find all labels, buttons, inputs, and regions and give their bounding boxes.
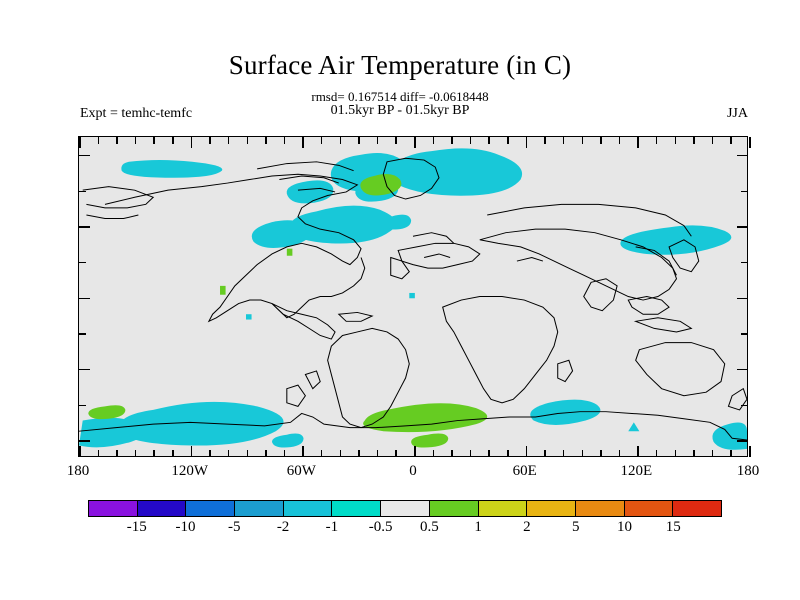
colorbar-tick-label: 15	[648, 519, 698, 536]
x-tick-minor	[600, 450, 602, 457]
x-axis-label-180w: 180	[43, 463, 113, 480]
x-tick-minor	[228, 450, 230, 457]
x-tick-minor	[488, 450, 490, 457]
colorbar-segment-2	[186, 501, 235, 516]
x-tick-minor	[712, 450, 714, 457]
colorbar-segment-3	[235, 501, 284, 516]
x-tick-minor	[619, 137, 621, 144]
colorbar-segment-7	[430, 501, 479, 516]
x-tick-major	[302, 137, 304, 148]
x-tick-minor	[358, 137, 360, 144]
x-tick-minor	[395, 137, 397, 144]
x-tick-major	[302, 446, 304, 457]
x-tick-minor	[693, 137, 695, 144]
x-tick-minor	[656, 137, 658, 144]
y-tick-right	[741, 405, 748, 407]
map-plot-area	[78, 136, 748, 457]
colorbar-tick-label: -15	[112, 519, 162, 536]
x-tick-minor	[730, 450, 732, 457]
x-axis-label-120W: 120W	[155, 463, 225, 480]
colorbar-segment-5	[332, 501, 381, 516]
x-tick-major	[191, 137, 193, 148]
y-tick-right	[741, 262, 748, 264]
x-tick-major	[79, 137, 81, 148]
x-axis-label-0: 0	[378, 463, 448, 480]
x-tick-minor	[116, 450, 118, 457]
x-tick-minor	[116, 137, 118, 144]
x-tick-minor	[340, 450, 342, 457]
colorbar-tick-label: 10	[599, 519, 649, 536]
x-tick-minor	[247, 450, 249, 457]
colorbar-tick-label: 0.5	[404, 519, 454, 536]
y-tick-minor	[79, 333, 86, 335]
x-tick-minor	[284, 450, 286, 457]
x-tick-minor	[321, 137, 323, 144]
y-tick-right	[737, 155, 748, 157]
x-tick-minor	[265, 450, 267, 457]
x-tick-minor	[209, 137, 211, 144]
coastlines	[79, 158, 747, 440]
x-tick-minor	[172, 450, 174, 457]
colorbar-segment-11	[625, 501, 674, 516]
y-tick-right	[737, 440, 748, 442]
x-tick-minor	[340, 137, 342, 144]
y-tick-right	[737, 369, 748, 371]
x-tick-minor	[228, 137, 230, 144]
season-label: JJA	[727, 106, 748, 122]
x-tick-minor	[693, 450, 695, 457]
y-tick-right	[737, 226, 748, 228]
colorbar-segment-4	[284, 501, 333, 516]
colorbar-segment-1	[138, 501, 187, 516]
y-tick-40N	[79, 226, 90, 228]
colorbar-segment-10	[576, 501, 625, 516]
x-tick-minor	[712, 137, 714, 144]
colorbar-tick-label: -2	[258, 519, 308, 536]
y-tick-80N	[79, 155, 90, 157]
world-map	[79, 137, 747, 456]
x-tick-minor	[172, 137, 174, 144]
x-tick-minor	[284, 137, 286, 144]
x-tick-minor	[507, 137, 509, 144]
x-tick-minor	[135, 450, 137, 457]
x-axis-label-60W: 60W	[266, 463, 336, 480]
x-tick-minor	[563, 137, 565, 144]
colorbar-segment-0	[89, 501, 138, 516]
x-tick-minor	[544, 450, 546, 457]
colorbar-tick-label: -10	[161, 519, 211, 536]
colorbar-tick-label: 5	[551, 519, 601, 536]
y-tick-minor	[79, 405, 86, 407]
x-tick-minor	[582, 137, 584, 144]
x-tick-minor	[488, 137, 490, 144]
colorbar-segment-6	[381, 501, 430, 516]
x-tick-minor	[544, 137, 546, 144]
x-axis-label-120E: 120E	[601, 463, 671, 480]
y-tick-right	[737, 298, 748, 300]
x-tick-minor	[98, 450, 100, 457]
x-tick-minor	[451, 450, 453, 457]
x-tick-minor	[582, 450, 584, 457]
colorbar	[88, 500, 722, 517]
colorbar-tick-label: -0.5	[356, 519, 406, 536]
x-tick-minor	[135, 137, 137, 144]
y-tick-40S	[79, 369, 90, 371]
colorbar-segment-8	[479, 501, 528, 516]
x-tick-major	[749, 137, 751, 148]
x-tick-minor	[675, 137, 677, 144]
x-tick-minor	[470, 450, 472, 457]
x-tick-major	[637, 137, 639, 148]
x-tick-minor	[321, 450, 323, 457]
x-tick-minor	[675, 450, 677, 457]
x-tick-minor	[433, 137, 435, 144]
colorbar-segment-12	[673, 501, 721, 516]
x-tick-minor	[395, 450, 397, 457]
x-axis-label-180e: 180	[713, 463, 783, 480]
x-tick-minor	[507, 450, 509, 457]
x-tick-minor	[451, 137, 453, 144]
x-tick-major	[414, 137, 416, 148]
x-tick-major	[79, 446, 81, 457]
x-tick-minor	[470, 137, 472, 144]
x-tick-minor	[377, 450, 379, 457]
y-tick-minor	[79, 191, 86, 193]
y-tick-right	[741, 191, 748, 193]
x-tick-major	[526, 137, 528, 148]
x-tick-major	[414, 446, 416, 457]
colorbar-tick-label: -5	[209, 519, 259, 536]
page-title: Surface Air Temperature (in C)	[0, 50, 800, 81]
x-tick-minor	[153, 137, 155, 144]
x-tick-minor	[656, 450, 658, 457]
x-tick-major	[526, 446, 528, 457]
colorbar-tick-label: 2	[502, 519, 552, 536]
x-tick-minor	[153, 450, 155, 457]
experiment-label: Expt = temhc-temfc	[80, 106, 192, 122]
x-tick-major	[191, 446, 193, 457]
x-tick-minor	[98, 137, 100, 144]
x-tick-minor	[619, 450, 621, 457]
x-tick-minor	[247, 137, 249, 144]
x-tick-major	[749, 446, 751, 457]
x-tick-minor	[730, 137, 732, 144]
x-tick-minor	[265, 137, 267, 144]
colorbar-tick-label: 1	[453, 519, 503, 536]
y-tick-right	[741, 333, 748, 335]
x-tick-minor	[377, 137, 379, 144]
colorbar-tick-label: -1	[307, 519, 357, 536]
y-tick-80S	[79, 440, 90, 442]
x-axis-label-60E: 60E	[490, 463, 560, 480]
x-tick-minor	[600, 137, 602, 144]
x-tick-minor	[433, 450, 435, 457]
x-tick-minor	[563, 450, 565, 457]
y-tick-0	[79, 298, 90, 300]
colorbar-segment-9	[527, 501, 576, 516]
x-tick-major	[637, 446, 639, 457]
x-tick-minor	[209, 450, 211, 457]
y-tick-minor	[79, 262, 86, 264]
x-tick-minor	[358, 450, 360, 457]
